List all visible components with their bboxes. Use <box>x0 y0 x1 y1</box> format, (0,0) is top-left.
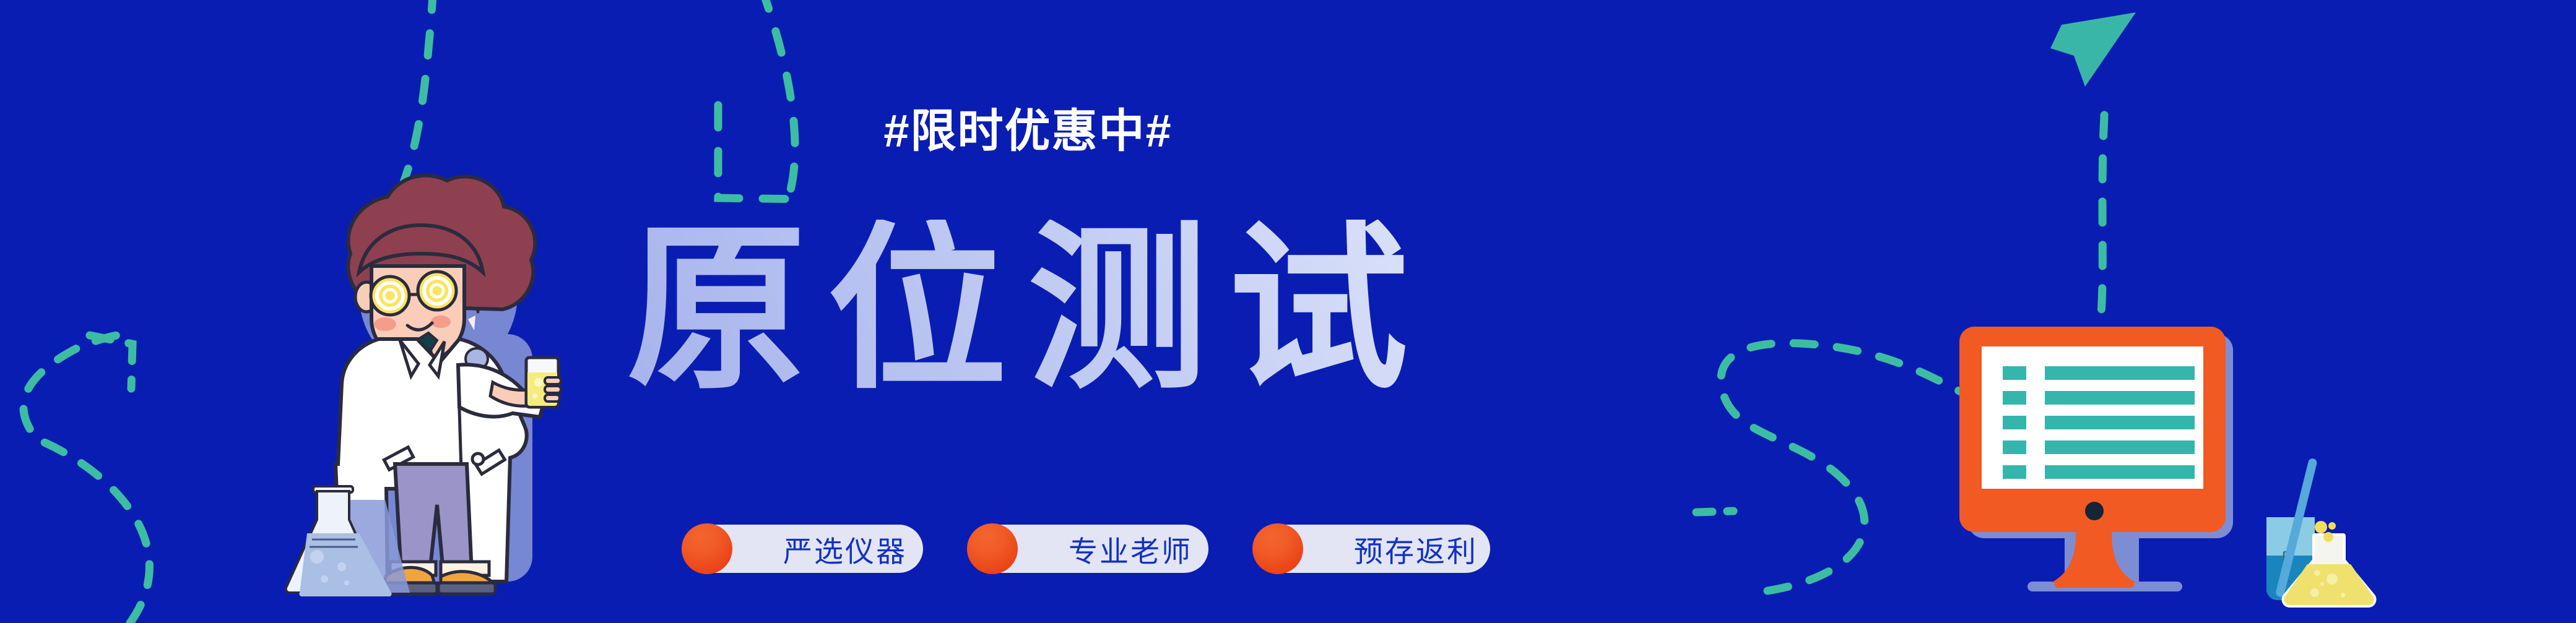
feature-pill-1-label: 严选仪器 <box>783 528 907 570</box>
promo-tagline: #限时优惠中# <box>0 108 2316 154</box>
feature-pill-2[interactable]: 专业老师 <box>976 525 1208 573</box>
feature-pill-1[interactable]: 严选仪器 <box>690 525 923 573</box>
feature-pill-3-label: 预存返利 <box>1354 528 1478 570</box>
orange-circle-icon <box>682 523 732 574</box>
feature-pill-2-label: 专业老师 <box>1069 528 1192 570</box>
orange-circle-icon <box>1252 523 1303 574</box>
feature-pill-group: 严选仪器 专业老师 预存返利 <box>690 525 1490 573</box>
orange-circle-icon <box>967 523 1018 574</box>
promo-banner: #限时优惠中# 原位测试 严选仪器 专业老师 预存返利 <box>0 0 2576 623</box>
page-title: 原位测试 <box>0 220 2316 399</box>
feature-pill-3[interactable]: 预存返利 <box>1261 525 1490 573</box>
